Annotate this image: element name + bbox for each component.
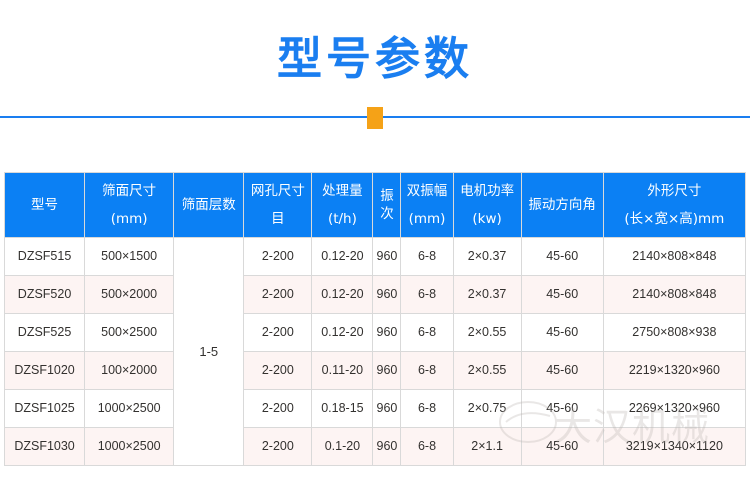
cell-model: DZSF1020 xyxy=(5,352,84,389)
cell-frequency: 960 xyxy=(373,352,400,389)
cell-dimensions: 3219×1340×1120 xyxy=(604,428,745,465)
cell-model: DZSF520 xyxy=(5,276,84,313)
cell-motor-power: 2×0.37 xyxy=(454,238,521,275)
cell-motor-power: 2×0.37 xyxy=(454,276,521,313)
table-row: DZSF1020 100×2000 2-200 0.11-20 960 6-8 … xyxy=(5,352,745,389)
table-row: DZSF520 500×2000 2-200 0.12-20 960 6-8 2… xyxy=(5,276,745,313)
cell-capacity: 0.18-15 xyxy=(312,390,372,427)
column-header-amplitude: 双振幅 (mm) xyxy=(401,173,452,237)
cell-vibration-angle: 45-60 xyxy=(522,352,603,389)
cell-amplitude: 6-8 xyxy=(401,314,452,351)
cell-model: DZSF1025 xyxy=(5,390,84,427)
cell-mesh-size: 2-200 xyxy=(244,390,311,427)
table-header-row: 型号 筛面尺寸 (mm) 筛面层数 网孔尺寸 目 处理量 (t/h) xyxy=(5,173,745,237)
cell-model: DZSF525 xyxy=(5,314,84,351)
column-header-vibration-angle: 振动方向角 xyxy=(522,173,603,237)
cell-mesh-size: 2-200 xyxy=(244,314,311,351)
cell-capacity: 0.12-20 xyxy=(312,314,372,351)
table-row: DZSF1030 1000×2500 2-200 0.1-20 960 6-8 … xyxy=(5,428,745,465)
cell-dimensions: 2269×1320×960 xyxy=(604,390,745,427)
cell-motor-power: 2×1.1 xyxy=(454,428,521,465)
cell-dimensions: 2140×808×848 xyxy=(604,238,745,275)
cell-model: DZSF1030 xyxy=(5,428,84,465)
column-header-model: 型号 xyxy=(5,173,84,237)
cell-frequency: 960 xyxy=(373,390,400,427)
cell-screen-size: 1000×2500 xyxy=(85,428,173,465)
cell-model: DZSF515 xyxy=(5,238,84,275)
spec-table: 型号 筛面尺寸 (mm) 筛面层数 网孔尺寸 目 处理量 (t/h) xyxy=(4,172,746,466)
cell-amplitude: 6-8 xyxy=(401,276,452,313)
cell-screen-size: 1000×2500 xyxy=(85,390,173,427)
column-header-frequency: 振次 xyxy=(373,173,400,237)
cell-amplitude: 6-8 xyxy=(401,238,452,275)
cell-motor-power: 2×0.55 xyxy=(454,352,521,389)
column-header-motor-power: 电机功率 (kw) xyxy=(454,173,521,237)
cell-dimensions: 2140×808×848 xyxy=(604,276,745,313)
cell-screen-size: 500×2000 xyxy=(85,276,173,313)
cell-mesh-size: 2-200 xyxy=(244,428,311,465)
cell-capacity: 0.12-20 xyxy=(312,238,372,275)
cell-amplitude: 6-8 xyxy=(401,352,452,389)
cell-frequency: 960 xyxy=(373,238,400,275)
column-header-screen-layers: 筛面层数 xyxy=(174,173,243,237)
cell-vibration-angle: 45-60 xyxy=(522,238,603,275)
cell-dimensions: 2750×808×938 xyxy=(604,314,745,351)
cell-screen-layers-merged: 1-5 xyxy=(174,238,243,465)
cell-dimensions: 2219×1320×960 xyxy=(604,352,745,389)
cell-frequency: 960 xyxy=(373,276,400,313)
cell-screen-size: 500×1500 xyxy=(85,238,173,275)
cell-frequency: 960 xyxy=(373,428,400,465)
cell-capacity: 0.11-20 xyxy=(312,352,372,389)
cell-vibration-angle: 45-60 xyxy=(522,428,603,465)
table-body: DZSF515 500×1500 1-5 2-200 0.12-20 960 6… xyxy=(5,238,745,465)
cell-screen-size: 500×2500 xyxy=(85,314,173,351)
cell-mesh-size: 2-200 xyxy=(244,352,311,389)
cell-motor-power: 2×0.55 xyxy=(454,314,521,351)
column-header-mesh-size: 网孔尺寸 目 xyxy=(244,173,311,237)
spec-table-container: 型号 筛面尺寸 (mm) 筛面层数 网孔尺寸 目 处理量 (t/h) xyxy=(4,172,746,466)
table-row: DZSF525 500×2500 2-200 0.12-20 960 6-8 2… xyxy=(5,314,745,351)
cell-capacity: 0.1-20 xyxy=(312,428,372,465)
page-title: 型号参数 xyxy=(0,30,750,88)
column-header-dimensions: 外形尺寸 (长×宽×高)mm xyxy=(604,173,745,237)
cell-vibration-angle: 45-60 xyxy=(522,390,603,427)
cell-mesh-size: 2-200 xyxy=(244,276,311,313)
table-row: DZSF515 500×1500 1-5 2-200 0.12-20 960 6… xyxy=(5,238,745,275)
cell-frequency: 960 xyxy=(373,314,400,351)
cell-amplitude: 6-8 xyxy=(401,428,452,465)
page-header: 型号参数 xyxy=(0,0,750,160)
column-header-screen-size: 筛面尺寸 (mm) xyxy=(85,173,173,237)
cell-motor-power: 2×0.75 xyxy=(454,390,521,427)
table-row: DZSF1025 1000×2500 2-200 0.18-15 960 6-8… xyxy=(5,390,745,427)
cell-capacity: 0.12-20 xyxy=(312,276,372,313)
cell-vibration-angle: 45-60 xyxy=(522,276,603,313)
cell-vibration-angle: 45-60 xyxy=(522,314,603,351)
cell-screen-size: 100×2000 xyxy=(85,352,173,389)
title-divider xyxy=(0,106,750,128)
cell-amplitude: 6-8 xyxy=(401,390,452,427)
column-header-capacity: 处理量 (t/h) xyxy=(312,173,372,237)
divider-accent-square xyxy=(367,107,383,129)
cell-mesh-size: 2-200 xyxy=(244,238,311,275)
